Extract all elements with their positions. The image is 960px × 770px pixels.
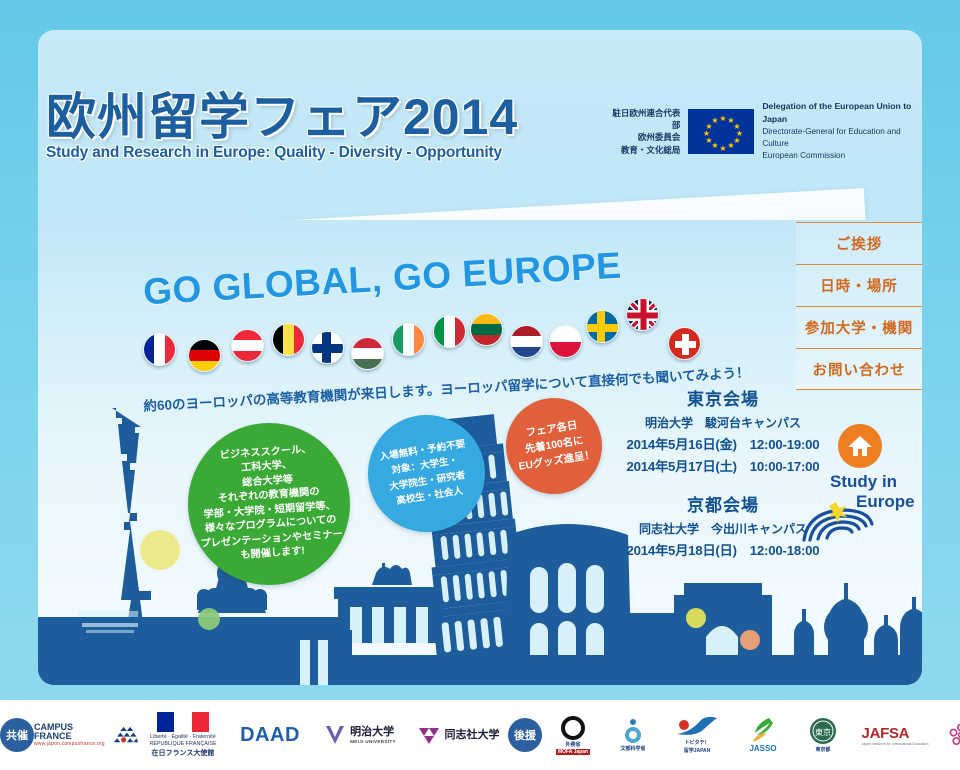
tobitate-jp: トビタテ！ — [684, 739, 709, 746]
giveaway-bubble: フェア各日 先着100名に EUグッズ進呈！ — [506, 398, 602, 494]
support-badge-wrap: 後援 — [508, 718, 542, 752]
decor-dot-orange-right — [740, 630, 760, 650]
poster-page: 欧州留学フェア2014 Study and Research in Europe… — [0, 0, 960, 770]
logo-mext[interactable]: 文部科学省 — [604, 718, 662, 752]
footer-sponsors: 共催 CAMPUS FRANCE www.japon.campusfrance.… — [0, 700, 960, 770]
venue-tokyo-place: 明治大学 駿河台キャンパス — [598, 414, 848, 431]
mofa-mark-icon — [561, 716, 585, 740]
logo-french-embassy[interactable]: Liberté · Égalité · Fraternité RÉPUBLIQU… — [138, 712, 228, 758]
logo-campus-france[interactable]: CAMPUS FRANCE www.japon.campusfrance.org — [34, 723, 138, 747]
decor-dot-yellow-left — [140, 530, 180, 570]
tokyo-seal-icon: 東京 — [809, 717, 837, 745]
doshisha-wordmark: 同志社大学 — [445, 729, 500, 741]
logo-meiji-university[interactable]: 明治大学 MEIJI UNIVERSITY — [312, 724, 408, 746]
sidebar-item-universities[interactable]: 参加大学・機関 — [796, 306, 922, 348]
home-glyph-icon — [847, 434, 873, 458]
poster-card: 欧州留学フェア2014 Study and Research in Europe… — [38, 30, 922, 685]
flag-netherlands-icon — [510, 325, 543, 358]
cohost-badge: 共催 — [0, 718, 34, 752]
meiji-mark-icon — [324, 724, 346, 746]
french-embassy-motto: Liberté · Égalité · Fraternité — [149, 734, 216, 741]
tobitate-en: 留学JAPAN — [684, 747, 711, 754]
campus-france-url: www.japon.campusfrance.org — [34, 742, 105, 747]
home-icon[interactable] — [838, 424, 882, 468]
flag-france-icon — [143, 333, 176, 366]
meiji-en: MEIJI UNIVERSITY — [350, 739, 396, 744]
flag-italy-icon — [433, 315, 466, 348]
decor-dot-green-left — [198, 608, 220, 630]
flag-hungary-icon — [351, 337, 384, 370]
programs-bubble-text: ビジネススクール、 工科大学、 総合大学等 それぞれの教育機関の 学部・大学院・… — [194, 441, 344, 567]
mext-jp: 文部科学省 — [620, 745, 645, 752]
jasso-wordmark: JASSO — [749, 744, 776, 753]
mofa-jp: 外務省 — [565, 741, 580, 748]
campus-france-mark-icon — [109, 724, 138, 746]
jafsa-label: JAFSA — [862, 725, 910, 742]
flag-austria-icon — [231, 329, 264, 362]
sie-swirl-icon — [798, 490, 894, 546]
logo-jafsa[interactable]: JAFSA Japan Network for International Ed… — [852, 725, 938, 746]
logo-daad[interactable]: DAAD — [228, 724, 312, 747]
french-embassy-republic: RÉPUBLIQUE FRANÇAISE — [149, 741, 216, 748]
giveaway-bubble-text: フェア各日 先着100名に EUグッズ進呈！ — [512, 416, 595, 476]
flag-poland-icon — [549, 325, 582, 358]
sidebar-item-contact[interactable]: お問い合わせ — [796, 348, 922, 390]
jafsa-wordmark: JAFSA Japan Network for International Ed… — [862, 725, 929, 746]
flag-switzerland-icon — [668, 327, 701, 360]
mofa-en: MOFA Japan — [556, 749, 590, 755]
study-in-europe-logo[interactable]: Study in Europe — [798, 472, 948, 544]
svg-text:東京: 東京 — [815, 727, 831, 737]
sie-line1: Study in — [830, 472, 915, 492]
flag-lithuania-icon — [470, 313, 503, 346]
cohost-badge-wrap: 共催 — [0, 718, 34, 752]
logo-doshisha-university[interactable]: 同志社大学 — [408, 725, 508, 745]
flag-finland-icon — [311, 331, 344, 364]
flag-sweden-icon — [586, 310, 619, 343]
flag-ireland-icon — [392, 323, 425, 356]
logo-kyoto-prefecture[interactable]: 京都府 — [938, 723, 960, 748]
tokyo-jp: 東京都 — [815, 746, 830, 753]
flag-united-kingdom-icon — [626, 298, 659, 331]
sidebar-nav: ご挨拶 日時・場所 参加大学・機関 お問い合わせ — [796, 222, 922, 390]
french-embassy-label: 在日フランス大使館 — [149, 749, 216, 758]
meiji-wordmark: 明治大学 MEIJI UNIVERSITY — [350, 726, 396, 743]
mext-mark-icon — [620, 718, 646, 744]
french-embassy-block: Liberté · Égalité · Fraternité RÉPUBLIQU… — [149, 712, 216, 758]
sidebar-item-greeting[interactable]: ご挨拶 — [796, 222, 922, 264]
flag-germany-icon — [188, 339, 221, 372]
kyoto-flower-icon — [949, 723, 960, 747]
meiji-jp: 明治大学 — [350, 726, 394, 738]
programs-bubble: ビジネススクール、 工科大学、 総合大学等 それぞれの教育機関の 学部・大学院・… — [188, 423, 350, 585]
french-flag-icon — [157, 712, 209, 732]
logo-mofa-japan[interactable]: 外務省 MOFA Japan — [542, 716, 604, 755]
flag-belgium-icon — [272, 323, 305, 356]
decor-dot-yellow-right — [686, 608, 706, 628]
venue-tokyo: 東京会場 明治大学 駿河台キャンパス 2014年5月16日(金) 12:00-1… — [598, 385, 848, 475]
jasso-mark-icon — [747, 717, 779, 743]
country-flags-row — [38, 30, 922, 430]
logo-jasso[interactable]: JASSO — [732, 717, 794, 753]
daad-wordmark: DAAD — [240, 724, 300, 747]
admission-bubble-text: 入場無料・予約不要 対象：大学生・ 大学院生・研究者 高校生・社会人 — [379, 436, 474, 510]
logo-tokyo-metropolitan[interactable]: 東京 東京都 — [794, 717, 852, 753]
admission-bubble: 入場無料・予約不要 対象：大学生・ 大学院生・研究者 高校生・社会人 — [368, 415, 485, 532]
venue-tokyo-date-1: 2014年5月16日(金) 12:00-19:00 — [598, 434, 848, 453]
support-badge: 後援 — [508, 718, 542, 752]
doshisha-mark-icon — [417, 725, 441, 745]
logo-tobitate[interactable]: トビタテ！ 留学JAPAN — [662, 716, 732, 754]
tobitate-bird-icon — [675, 716, 719, 738]
campus-france-wordmark: CAMPUS FRANCE www.japon.campusfrance.org — [34, 723, 105, 747]
jafsa-sub: Japan Network for International Educatio… — [862, 742, 929, 746]
sidebar-item-datetime-place[interactable]: 日時・場所 — [796, 264, 922, 306]
